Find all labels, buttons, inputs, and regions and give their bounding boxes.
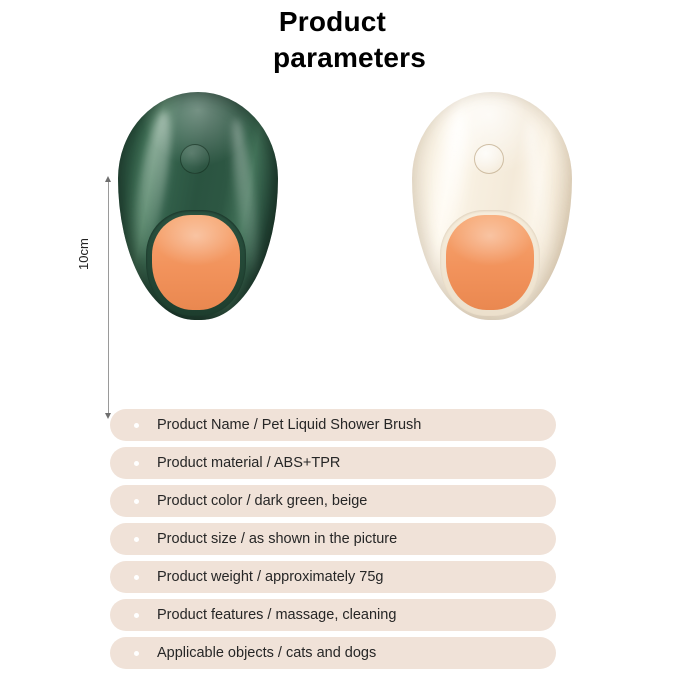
- spec-row: Product size / as shown in the picture: [110, 523, 556, 555]
- spec-list: Product Name / Pet Liquid Shower Brush P…: [110, 409, 556, 675]
- product-showcase: 10cm 6.5cm 【 blackish green 】: [0, 82, 679, 382]
- spec-row-text: Product material / ABS+TPR: [157, 455, 340, 471]
- power-button-beige: [474, 144, 504, 174]
- product-image-blackish-green: [118, 92, 278, 320]
- bullet-icon: [134, 499, 139, 504]
- bullet-icon: [134, 461, 139, 466]
- spec-row-text: Product features / massage, cleaning: [157, 607, 396, 623]
- height-dimension-line: [108, 181, 109, 414]
- bullet-icon: [134, 613, 139, 618]
- power-button-green: [180, 144, 210, 174]
- spec-row: Product features / massage, cleaning: [110, 599, 556, 631]
- spec-row: Product material / ABS+TPR: [110, 447, 556, 479]
- page-title-line-2: parameters: [20, 40, 679, 76]
- brush-pad-ring-green: [146, 210, 246, 316]
- bullet-icon: [134, 575, 139, 580]
- spec-row: Product color / dark green, beige: [110, 485, 556, 517]
- brush-pad-green: [152, 215, 240, 310]
- spec-row: Applicable objects / cats and dogs: [110, 637, 556, 669]
- spec-row-text: Product weight / approximately 75g: [157, 569, 384, 585]
- product-image-beige: [412, 92, 572, 320]
- page-title-line-1: Product: [0, 4, 679, 40]
- bullet-icon: [134, 651, 139, 656]
- spec-row: Product weight / approximately 75g: [110, 561, 556, 593]
- spec-row-text: Product color / dark green, beige: [157, 493, 367, 509]
- spec-row-text: Applicable objects / cats and dogs: [157, 645, 376, 661]
- brush-pad-beige: [446, 215, 534, 310]
- spec-row: Product Name / Pet Liquid Shower Brush: [110, 409, 556, 441]
- spec-row-text: Product size / as shown in the picture: [157, 531, 397, 547]
- page-title: Product parameters: [0, 4, 679, 76]
- bullet-icon: [134, 423, 139, 428]
- brush-pad-ring-beige: [440, 210, 540, 316]
- height-dimension-label: 10cm: [76, 238, 91, 270]
- spec-row-text: Product Name / Pet Liquid Shower Brush: [157, 417, 421, 433]
- bullet-icon: [134, 537, 139, 542]
